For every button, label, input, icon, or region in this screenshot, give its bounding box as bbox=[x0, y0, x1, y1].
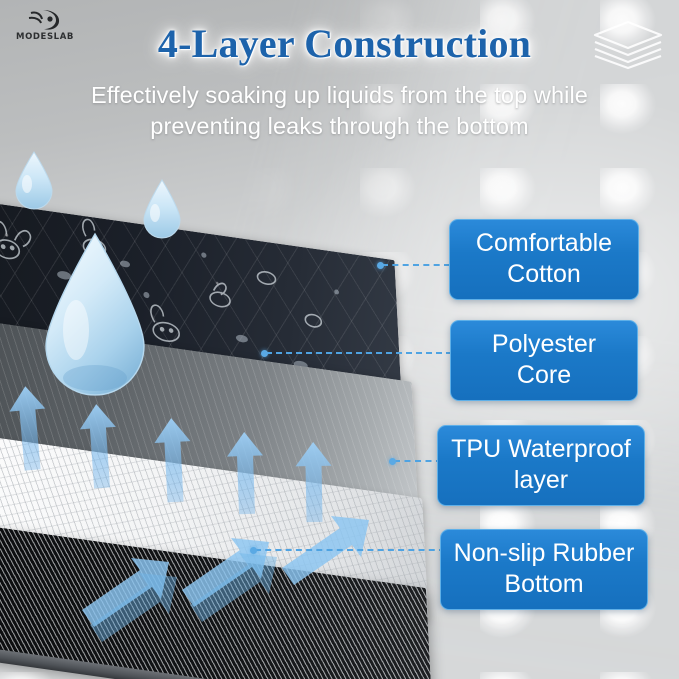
water-droplet-large-icon bbox=[30, 230, 160, 406]
callout-polyester-core[interactable]: Polyester Core bbox=[450, 320, 638, 401]
callout-line-2: layer bbox=[444, 465, 638, 496]
connector-line-polyester bbox=[266, 352, 452, 354]
callout-line-2: Cotton bbox=[456, 259, 632, 290]
callout-tpu-waterproof-layer[interactable]: TPU Waterproof layer bbox=[437, 425, 645, 506]
callout-line-2: Core bbox=[457, 360, 631, 391]
product-infographic: MODESLAB 4-Layer Construction Effectivel… bbox=[0, 0, 679, 679]
page-subtitle: Effectively soaking up liquids from the … bbox=[36, 80, 643, 142]
callout-non-slip-rubber-bottom[interactable]: Non-slip Rubber Bottom bbox=[440, 529, 648, 610]
connector-line-tpu bbox=[394, 460, 442, 462]
connector-line-cotton bbox=[382, 264, 450, 266]
layer-stack-illustration bbox=[0, 170, 490, 670]
water-droplet-small-left-icon bbox=[10, 150, 58, 212]
connector-line-rubber bbox=[255, 549, 445, 551]
callout-line-1: TPU Waterproof bbox=[444, 434, 638, 465]
callout-line-1: Comfortable bbox=[456, 228, 632, 259]
callout-comfortable-cotton[interactable]: Comfortable Cotton bbox=[449, 219, 639, 300]
callout-line-1: Polyester bbox=[457, 329, 631, 360]
callout-line-2: Bottom bbox=[447, 569, 641, 600]
callout-line-1: Non-slip Rubber bbox=[447, 538, 641, 569]
page-title: 4-Layer Construction bbox=[0, 22, 679, 66]
stacked-layers-icon bbox=[589, 18, 667, 70]
